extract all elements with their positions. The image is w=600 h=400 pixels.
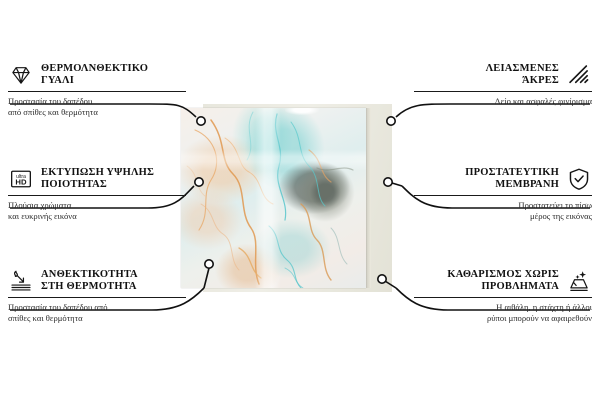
feature-title: ΑΝΘΕΚΤΙΚΟΤΗΤΑ ΣΤΗ ΘΕΡΜΟΤΗΤΑ [41, 269, 138, 294]
feature-description: Η αιθάλη, η στάχτη ή άλλοι ρύποι μπορούν… [414, 302, 592, 323]
feature-title: ΛΕΙΑΣΜΕΝΕΣ ΆΚΡΕΣ [486, 63, 559, 88]
divider [414, 195, 592, 196]
feature-header: ΚΑΘΑΡΙΣΜΟΣ ΧΩΡΙΣ ΠΡΟΒΛΗΜΑΤΑ [414, 268, 592, 294]
product-image [181, 108, 392, 288]
feature-header: ΘΕΡΜΟΛΝΘΕΚΤΙΚΟ ΓΥΑΛΙ [8, 62, 186, 88]
divider [414, 91, 592, 92]
ink-veins [181, 108, 366, 288]
divider [8, 91, 186, 92]
divider [8, 195, 186, 196]
feature-heat-resistance: ΑΝΘΕΚΤΙΚΟΤΗΤΑ ΣΤΗ ΘΕΡΜΟΤΗΤΑ Προστασία το… [8, 268, 186, 323]
feature-protective-membrane: ΠΡΟΣΤΑΤΕΥΤΙΚΗ ΜΕΜΒΡΑΝΗ Προστατεύει το πί… [414, 166, 592, 221]
ultra-hd-icon: ultra HD [8, 166, 34, 192]
glass-edge [366, 108, 371, 288]
feature-header: ΛΕΙΑΣΜΕΝΕΣ ΆΚΡΕΣ [414, 62, 592, 88]
feature-description: Λείο και ασφαλές φινίρισμα [414, 96, 592, 107]
feature-header: ΠΡΟΣΤΑΤΕΥΤΙΚΗ ΜΕΜΒΡΑΝΗ [414, 166, 592, 192]
feature-title: ΠΡΟΣΤΑΤΕΥΤΙΚΗ ΜΕΜΒΡΑΝΗ [465, 167, 559, 192]
easy-clean-sponge-icon [566, 268, 592, 294]
feature-description: Προστασία του δαπέδου από σπίθες και θερ… [8, 302, 186, 323]
shield-check-icon [566, 166, 592, 192]
connector-stem-5 [392, 183, 402, 186]
heat-resistance-icon [8, 268, 34, 294]
feature-high-quality-print: ultra HD ΕΚΤΥΠΩΣΗ ΥΨΗΛΗΣ ΠΟΙΟΤΗΤΑΣ Πλούσ… [8, 166, 186, 221]
svg-text:HD: HD [15, 178, 27, 187]
feature-easy-cleaning: ΚΑΘΑΡΙΣΜΟΣ ΧΩΡΙΣ ΠΡΟΒΛΗΜΑΤΑ Η αιθάλη, η … [414, 268, 592, 323]
feature-description: Προστατεύει το πίσω μέρος της εικόνας [414, 200, 592, 221]
polished-edges-icon [566, 62, 592, 88]
divider [414, 297, 592, 298]
feature-description: Πλούσια χρώματα και ευκρινής εικόνα [8, 200, 186, 221]
diamond-icon [8, 62, 34, 88]
feature-title: ΚΑΘΑΡΙΣΜΟΣ ΧΩΡΙΣ ΠΡΟΒΛΗΜΑΤΑ [447, 269, 559, 294]
feature-title: ΘΕΡΜΟΛΝΘΕΚΤΙΚΟ ΓΥΑΛΙ [41, 63, 148, 88]
divider [8, 297, 186, 298]
feature-description: Προστασία του δαπέδου από σπίθες και θερ… [8, 96, 186, 117]
feature-polished-edges: ΛΕΙΑΣΜΕΝΕΣ ΆΚΡΕΣ Λείο και ασφαλές φινίρι… [414, 62, 592, 107]
feature-header: ultra HD ΕΚΤΥΠΩΣΗ ΥΨΗΛΗΣ ΠΟΙΟΤΗΤΑΣ [8, 166, 186, 192]
glass-splashback [181, 108, 366, 288]
feature-heat-resistant-glass: ΘΕΡΜΟΛΝΘΕΚΤΙΚΟ ΓΥΑΛΙ Προστασία του δαπέδ… [8, 62, 186, 117]
feature-title: ΕΚΤΥΠΩΣΗ ΥΨΗΛΗΣ ΠΟΙΟΤΗΤΑΣ [41, 167, 154, 192]
feature-header: ΑΝΘΕΚΤΙΚΟΤΗΤΑ ΣΤΗ ΘΕΡΜΟΤΗΤΑ [8, 268, 186, 294]
infographic-canvas: ΘΕΡΜΟΛΝΘΕΚΤΙΚΟ ΓΥΑΛΙ Προστασία του δαπέδ… [0, 0, 600, 400]
glass-highlight [285, 108, 319, 115]
